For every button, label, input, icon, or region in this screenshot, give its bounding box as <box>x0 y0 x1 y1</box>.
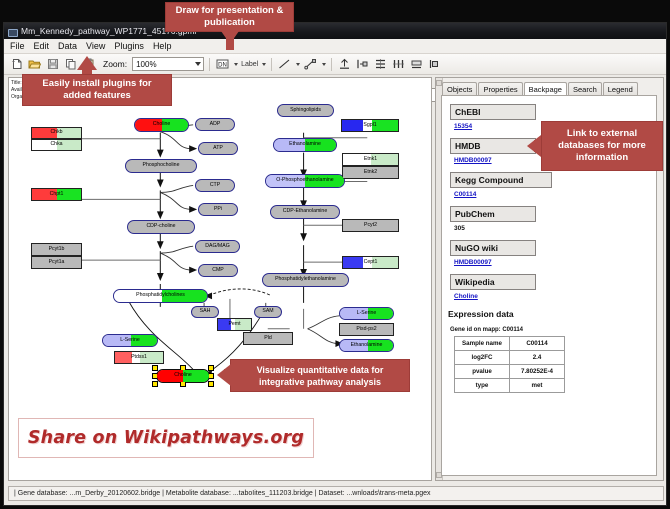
expression-data-heading: Expression data <box>448 309 656 319</box>
exp-key-type: type <box>455 379 510 393</box>
menubar: File Edit Data View Plugins Help <box>4 39 666 54</box>
callout-visualize: Visualize quantitative data for integrat… <box>230 359 410 392</box>
node-sgpl1[interactable]: Sgpl1 <box>341 119 399 132</box>
db-header-wikipedia: Wikipedia <box>450 274 536 290</box>
toolbar-separator-3 <box>331 58 332 71</box>
save-disk-icon[interactable] <box>45 57 60 72</box>
menu-plugins[interactable]: Plugins <box>114 41 144 51</box>
exp-key-pvalue: pvalue <box>455 365 510 379</box>
tab-legend[interactable]: Legend <box>603 82 638 96</box>
node-adp[interactable]: ADP <box>195 118 235 131</box>
toolbar-separator <box>209 58 210 71</box>
node-choline-top[interactable]: Choline <box>134 118 189 132</box>
node-cdp-ethanolamine[interactable]: CDP-Ethanolamine <box>270 205 340 219</box>
share-banner-text: Share on Wikipathways.org <box>28 428 304 448</box>
exp-val-log2fc: 2.4 <box>510 351 565 365</box>
node-pld[interactable]: Pld <box>243 332 293 345</box>
callout-draw-arrow <box>221 31 239 44</box>
panel-tabs: Objects Properties Backpage Search Legen… <box>442 81 638 96</box>
node-etnk1[interactable]: Etnk1 <box>342 153 399 166</box>
exp-val-pvalue: 7.80252E-4 <box>510 365 565 379</box>
shape-tool-icon[interactable] <box>303 57 318 72</box>
node-ctp[interactable]: CTP <box>195 179 235 192</box>
node-pisd-ps2[interactable]: Pisd-ps2 <box>339 323 394 336</box>
distribute-vertical-icon[interactable] <box>373 57 388 72</box>
label-tool-label[interactable]: Label <box>241 61 258 68</box>
node-cdp-choline[interactable]: CDP-choline <box>127 220 195 234</box>
node-l-serine-left[interactable]: L-Serine <box>102 334 158 347</box>
app-window-icon <box>8 27 17 36</box>
status-bar: | Gene database: ...m_Derby_20120602.bri… <box>8 486 664 501</box>
tab-properties[interactable]: Properties <box>478 82 522 96</box>
callout-visualize-arrow <box>217 364 231 386</box>
zoom-select[interactable]: 100% <box>132 57 204 71</box>
new-file-icon[interactable] <box>9 57 24 72</box>
exp-key-log2fc: log2FC <box>455 351 510 365</box>
callout-link-arrow <box>527 135 541 157</box>
node-ethanolamine-bottom[interactable]: Ethanolamine <box>339 339 394 352</box>
node-ppi[interactable]: PPi <box>198 203 238 216</box>
db-link-wikipedia[interactable]: Choline <box>454 293 656 300</box>
menu-file[interactable]: File <box>10 41 25 51</box>
node-atp[interactable]: ATP <box>198 142 238 155</box>
zoom-value: 100% <box>136 60 156 69</box>
db-value-pubchem: 305 <box>454 225 656 232</box>
node-ethanolamine-top[interactable]: Ethanolamine <box>273 138 337 152</box>
toolbar-separator-2 <box>271 58 272 71</box>
table-row: Sample name C00114 <box>455 337 565 351</box>
shape-dropdown-icon[interactable] <box>322 63 326 66</box>
node-chka[interactable]: Chka <box>31 139 82 151</box>
db-header-nugo: NuGO wiki <box>450 240 536 256</box>
menu-help[interactable]: Help <box>153 41 172 51</box>
node-pcyt1b[interactable]: Pcyt1b <box>31 243 82 256</box>
status-text: | Gene database: ...m_Derby_20120602.bri… <box>14 490 431 497</box>
line-dropdown-icon[interactable] <box>296 63 300 66</box>
node-pemt[interactable]: Pemt <box>217 318 252 331</box>
tab-objects[interactable]: Objects <box>442 82 477 96</box>
node-cept1[interactable]: Cept1 <box>342 256 399 269</box>
share-banner: Share on Wikipathways.org <box>18 418 314 458</box>
node-ptdss1[interactable]: Ptdss1 <box>114 351 164 364</box>
line-tool-icon[interactable] <box>277 57 292 72</box>
db-header-chebi: ChEBI <box>450 104 536 120</box>
db-header-pubchem: PubChem <box>450 206 536 222</box>
node-etnk2[interactable]: Etnk2 <box>342 166 399 179</box>
node-pcyt2[interactable]: Pcyt2 <box>342 219 399 232</box>
node-choline-selected[interactable]: Choline <box>156 369 210 383</box>
exp-key-sample-name: Sample name <box>455 337 510 351</box>
align-left-icon[interactable] <box>355 57 370 72</box>
node-chkb[interactable]: Chkb <box>31 127 82 139</box>
tab-search[interactable]: Search <box>568 82 602 96</box>
label-dropdown-icon[interactable] <box>262 63 266 66</box>
toolbar: Zoom: 100% DN Label <box>4 54 666 75</box>
node-sam[interactable]: SAM <box>254 306 282 318</box>
db-link-nugo[interactable]: HMDB00097 <box>454 259 656 266</box>
chevron-down-icon <box>195 62 201 66</box>
order-icon[interactable] <box>427 57 442 72</box>
table-row: log2FC 2.4 <box>455 351 565 365</box>
callout-draw: Draw for presentation & publication <box>165 2 294 32</box>
datanode-tool-icon[interactable]: DN <box>215 57 230 72</box>
copy-icon[interactable] <box>63 57 78 72</box>
zoom-label: Zoom: <box>103 59 127 69</box>
menu-view[interactable]: View <box>86 41 105 51</box>
node-dagmag[interactable]: DAG/MAG <box>195 240 240 253</box>
node-o-phosphoethanolamine[interactable]: O-Phosphoethanolamine <box>265 174 345 188</box>
window-titlebar: Mm_Kennedy_pathway_WP1771_45176.gpml <box>4 23 666 39</box>
menu-edit[interactable]: Edit <box>34 41 50 51</box>
screenshot-root: Mm_Kennedy_pathway_WP1771_45176.gpml Fil… <box>0 0 670 509</box>
node-phosphatidylcholines[interactable]: Phosphatidylcholines <box>113 289 208 303</box>
menu-data[interactable]: Data <box>58 41 77 51</box>
node-l-serine-right[interactable]: L-Serine <box>339 307 394 320</box>
svg-text:DN: DN <box>218 62 227 68</box>
datanode-dropdown-icon[interactable] <box>234 63 238 66</box>
align-top-icon[interactable] <box>337 57 352 72</box>
open-folder-icon[interactable] <box>27 57 42 72</box>
node-sah[interactable]: SAH <box>191 306 219 318</box>
db-header-kegg: Kegg Compound <box>450 172 552 188</box>
exp-val-sample-name: C00114 <box>510 337 565 351</box>
table-row: type met <box>455 379 565 393</box>
table-row: pvalue 7.80252E-4 <box>455 365 565 379</box>
callout-link: Link to external databases for more info… <box>541 121 663 171</box>
callout-plugins-arrow <box>77 56 97 70</box>
exp-val-type: met <box>510 379 565 393</box>
node-chpt1[interactable]: Chpt1 <box>31 188 82 201</box>
node-phosphocholine[interactable]: Phosphocholine <box>125 159 197 173</box>
distribute-horizontal-icon[interactable] <box>391 57 406 72</box>
expression-table: Sample name C00114 log2FC 2.4 pvalue 7.8… <box>454 336 565 393</box>
callout-plugins: Easily install plugins for added feature… <box>22 74 172 106</box>
node-phosphatidylethanolamine[interactable]: Phosphatidylethanolamine <box>262 273 349 287</box>
gene-id-on-mapp: Gene id on mapp: C00114 <box>450 327 656 333</box>
node-cmp[interactable]: CMP <box>198 264 238 277</box>
db-header-hmdb: HMDB <box>450 138 536 154</box>
db-link-kegg[interactable]: C00114 <box>454 191 656 198</box>
node-sphingolipids[interactable]: Sphingolipids <box>277 104 334 117</box>
node-pcyt1a[interactable]: Pcyt1a <box>31 256 82 269</box>
stack-icon[interactable] <box>409 57 424 72</box>
